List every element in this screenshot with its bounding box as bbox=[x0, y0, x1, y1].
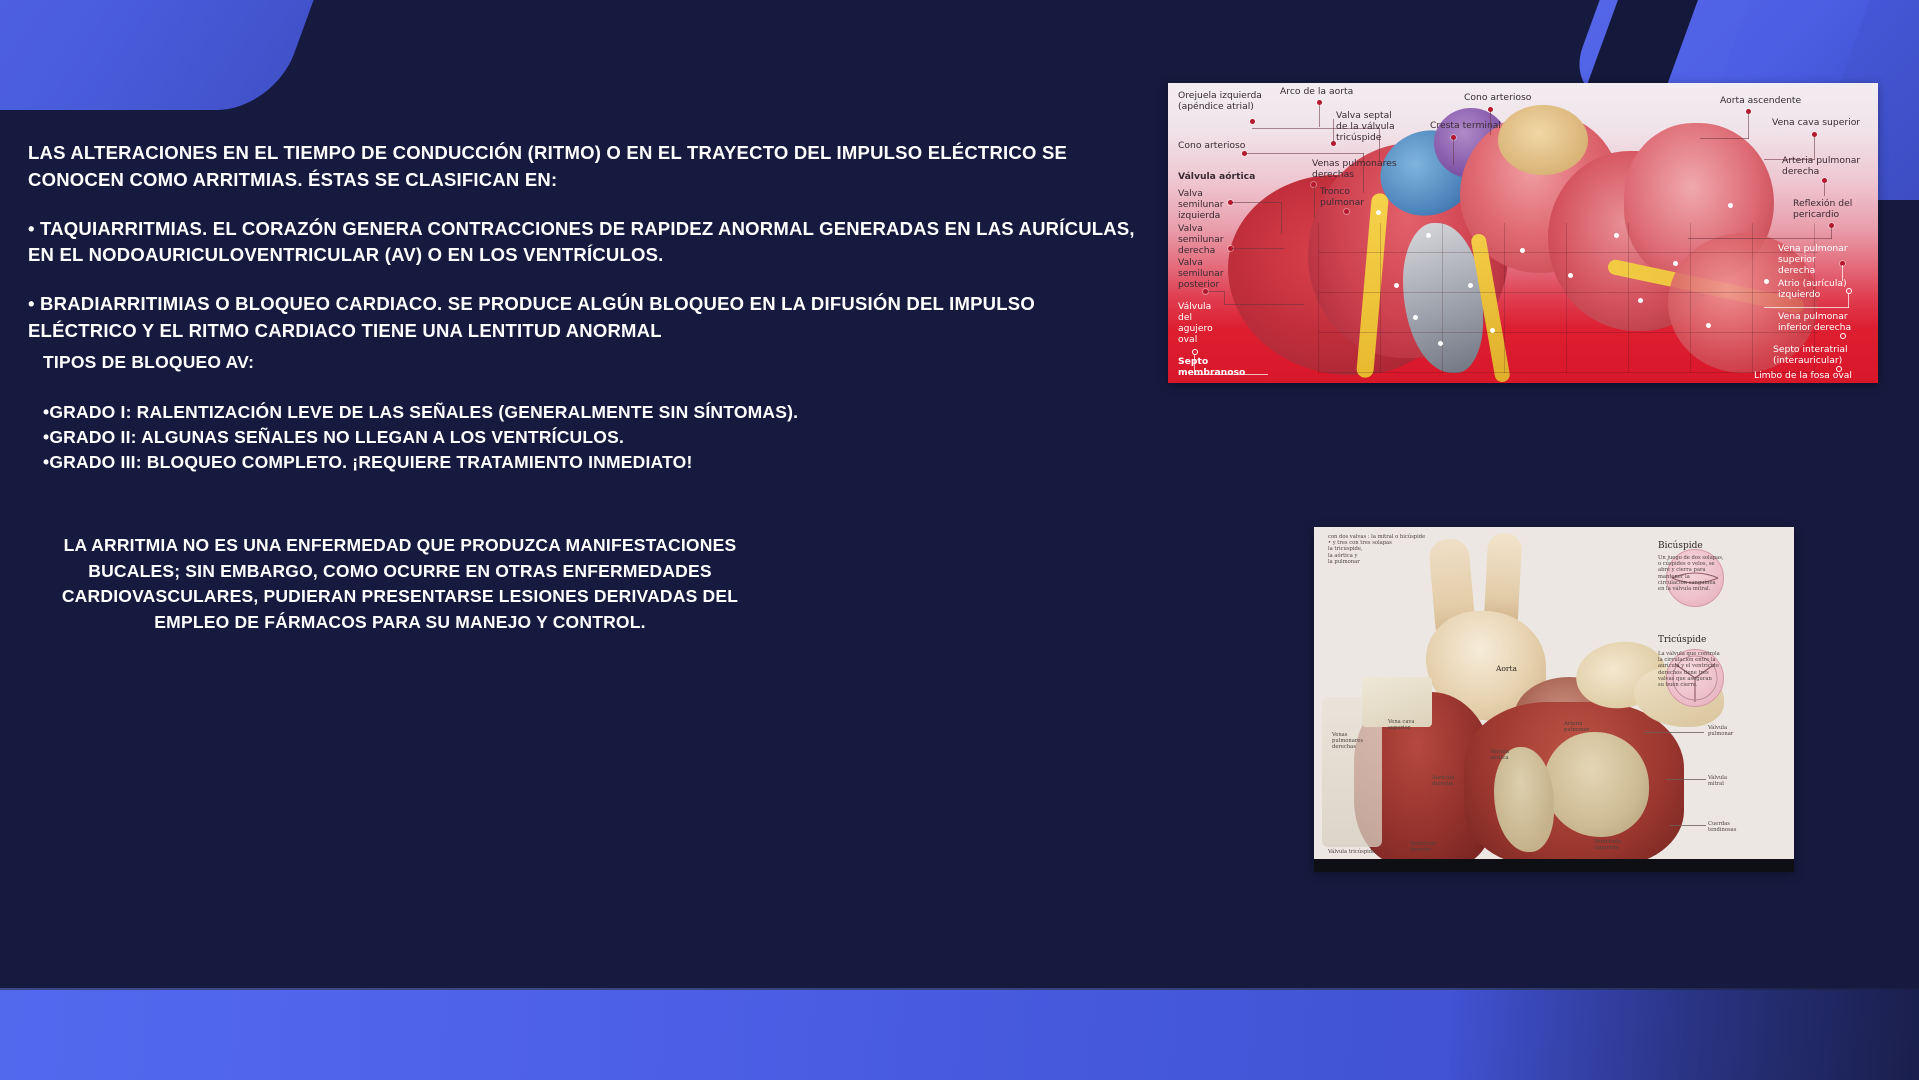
figure-label-reflexion-pericardio: Reflexión del pericardio bbox=[1793, 199, 1852, 221]
deco-top-left-shape-2 bbox=[0, 0, 426, 110]
deco-bottom-band bbox=[0, 990, 1919, 1080]
figure-leader-line bbox=[1224, 291, 1225, 305]
callout-dot bbox=[1728, 203, 1733, 208]
figure-leader-line bbox=[1232, 248, 1284, 249]
figure-grid-overlay bbox=[1318, 223, 1818, 373]
figure2-label-vena-cava-superior: Vena cava superior bbox=[1388, 719, 1414, 731]
paragraph-bradiarritmias: • BRADIARRITIMIAS O BLOQUEO CARDIACO. SE… bbox=[28, 291, 1143, 345]
figure-label-valva-semilunar-derecha: Valva semilunar derecha bbox=[1178, 224, 1224, 257]
figure2-label-valvula-pulmonar: Válvula pulmonar bbox=[1708, 725, 1733, 737]
figure-label-aorta-ascendente: Aorta ascendente bbox=[1720, 96, 1801, 107]
av-block-title: TIPOS DE BLOQUEO AV: bbox=[43, 352, 943, 373]
callout-dot bbox=[1426, 233, 1431, 238]
av-block: TIPOS DE BLOQUEO AV: •GRADO I: RALENTIZA… bbox=[43, 352, 943, 475]
figure-label-vena-cava-superior: Vena cava superior bbox=[1772, 118, 1860, 129]
figure-leader-line bbox=[1748, 113, 1749, 139]
figure2-label-cuerdas-tendinosas: Cuerdas tendinosas bbox=[1708, 821, 1736, 833]
figure-label-valva-septal-tricuspide: Valva septal de la válvula tricúspide bbox=[1336, 111, 1395, 144]
figure-label-dot bbox=[1846, 288, 1852, 294]
figure2-leader-line bbox=[1644, 732, 1704, 733]
figure-leader-line bbox=[1764, 307, 1849, 308]
figure-leader-line bbox=[1453, 139, 1454, 165]
list-item-grado-2: •GRADO II: ALGUNAS SEÑALES NO LLEGAN A L… bbox=[43, 425, 943, 450]
figure2-label-valvula-mitral: Válvula mitral bbox=[1708, 775, 1727, 787]
figure-leader-line bbox=[1246, 153, 1364, 154]
figure-label-arteria-pulmonar-derecha: Arteria pulmonar derecha bbox=[1782, 156, 1860, 178]
deco-top-left-shape-1 bbox=[0, 0, 363, 100]
figure-label-valva-semilunar-izquierda: Valva semilunar izquierda bbox=[1178, 189, 1224, 222]
figure-label-septo-interatrial: Septo interatrial (interauricular) bbox=[1773, 345, 1848, 367]
figure-leader-line bbox=[1824, 182, 1825, 196]
callout-dot bbox=[1438, 341, 1443, 346]
figure-label-valvula-agujero-oval: Válvula del agujero oval bbox=[1178, 302, 1213, 345]
figure-label-orejuela-izquierda: Orejuela izquierda (apéndice atrial) bbox=[1178, 91, 1262, 113]
figure2-label-ventriculo-derecho: Ventrículo derecho bbox=[1410, 841, 1437, 853]
figure-heart-anatomy-top[interactable]: Orejuela izquierda (apéndice atrial) Con… bbox=[1168, 83, 1878, 383]
figure-label-vena-pulmonar-superior-derecha: Vena pulmonar superior derecha bbox=[1778, 244, 1848, 277]
figure-label-dot bbox=[1192, 349, 1198, 355]
figure-label-valvula-aortica: Válvula aórtica bbox=[1178, 172, 1255, 183]
organ-shape-fat-pad bbox=[1498, 105, 1588, 175]
figure-leader-line bbox=[1281, 202, 1282, 234]
figure-heart-photo-bottom[interactable]: con dos valvas : la mitral o bicúspide •… bbox=[1314, 527, 1794, 872]
deco-bottom-right-fade bbox=[1449, 988, 1919, 1080]
figure-label-septo-membranoso: Septo membranoso bbox=[1178, 357, 1245, 379]
figure-leader-line bbox=[1319, 105, 1320, 127]
paragraph-taquiarritmias: • TAQUIARRITMIAS. EL CORAZÓN GENERA CONT… bbox=[28, 216, 1143, 270]
figure-label-vena-pulmonar-inferior-derecha: Vena pulmonar inferior derecha bbox=[1778, 312, 1851, 334]
figure-label-dot bbox=[1840, 333, 1846, 339]
callout-dot bbox=[1673, 261, 1678, 266]
figure2-label-arteria-pulmonar: Arteria pulmonar bbox=[1564, 721, 1589, 733]
figure2-panel-title-bicuspide: Bicúspide bbox=[1658, 541, 1703, 552]
figure2-panel-body-tricuspide: La válvula que controla la circulación e… bbox=[1658, 651, 1720, 688]
figure-label-cono-arterioso-center: Cono arterioso bbox=[1464, 93, 1531, 104]
figure2-label-ventriculo-izquierdo: Ventrículo izquierdo bbox=[1594, 839, 1621, 851]
figure2-label-valvula-aortica: Válvula aórtica bbox=[1490, 749, 1509, 761]
paragraph-intro: LAS ALTERACIONES EN EL TIEMPO DE CONDUCC… bbox=[28, 140, 1143, 194]
figure2-label-valvula-tricuspide: Válvula tricúspide bbox=[1328, 849, 1375, 855]
av-grade-list: •GRADO I: RALENTIZACIÓN LEVE DE LAS SEÑA… bbox=[43, 400, 943, 475]
slide-canvas: LAS ALTERACIONES EN EL TIEMPO DE CONDUCC… bbox=[0, 0, 1919, 1080]
figure-leader-line bbox=[1314, 186, 1315, 218]
callout-dot bbox=[1764, 279, 1769, 284]
list-item-grado-1: •GRADO I: RALENTIZACIÓN LEVE DE LAS SEÑA… bbox=[43, 400, 943, 425]
figure-leader-line bbox=[1490, 111, 1491, 135]
callout-dot bbox=[1490, 328, 1495, 333]
figure-leader-line bbox=[1206, 291, 1224, 292]
callout-dot bbox=[1706, 323, 1711, 328]
callout-dot bbox=[1376, 210, 1381, 215]
closing-paragraph: LA ARRITMIA NO ES UNA ENFERMEDAD QUE PRO… bbox=[40, 533, 760, 636]
figure-label-dot bbox=[1344, 209, 1349, 214]
figure2-bottom-bar bbox=[1314, 859, 1794, 872]
figure2-panel-title-tricuspide: Tricúspide bbox=[1658, 635, 1706, 646]
figure2-label-auricula-derecha: Aurícula derecha bbox=[1432, 775, 1454, 787]
figure-label-arco-aorta: Arco de la aorta bbox=[1280, 87, 1353, 98]
figure-label-limbo-fosa-oval: Limbo de la fosa oval bbox=[1754, 371, 1852, 382]
figure-label-dot bbox=[1250, 119, 1255, 124]
figure-leader-line bbox=[1688, 238, 1832, 239]
callout-dot bbox=[1520, 248, 1525, 253]
figure2-top-note: con dos valvas : la mitral o bicúspide •… bbox=[1328, 534, 1528, 565]
figure-leader-line bbox=[1700, 138, 1749, 139]
figure2-panel-body-bicuspide: Un juego de dos solapas, o cúspides o ve… bbox=[1658, 555, 1724, 592]
body-text-column: LAS ALTERACIONES EN EL TIEMPO DE CONDUCC… bbox=[28, 140, 1143, 370]
figure-label-atrio-auricula-izquierdo: Atrio (aurícula) izquierdo bbox=[1778, 279, 1847, 301]
figure2-label-venas-pulmonares-derechas: Venas pulmonares derechas bbox=[1332, 732, 1363, 751]
figure-leader-line bbox=[1232, 202, 1282, 203]
callout-dot bbox=[1614, 233, 1619, 238]
deco-top-left-shadow bbox=[0, 0, 56, 112]
callout-dot bbox=[1413, 315, 1418, 320]
figure2-label-aorta: Aorta bbox=[1496, 664, 1517, 673]
figure2-leader-line bbox=[1666, 779, 1706, 780]
figure-leader-line bbox=[1848, 294, 1849, 308]
callout-dot bbox=[1568, 273, 1573, 278]
callout-dot bbox=[1638, 298, 1643, 303]
figure-label-cono-arterioso-left: Cono arterioso bbox=[1178, 141, 1245, 152]
figure-leader-line bbox=[1224, 304, 1304, 305]
callout-dot bbox=[1468, 283, 1473, 288]
list-item-grado-3: •GRADO III: BLOQUEO COMPLETO. ¡REQUIERE … bbox=[43, 450, 943, 475]
figure2-leader-line bbox=[1670, 825, 1706, 826]
figure-label-valva-semilunar-posterior: Valva semilunar posterior bbox=[1178, 258, 1224, 291]
figure-leader-line bbox=[1333, 119, 1334, 143]
callout-dot bbox=[1394, 283, 1399, 288]
deco-bottom-band-line bbox=[0, 988, 1919, 992]
figure-label-tronco-pulmonar: Tronco pulmonar bbox=[1320, 187, 1364, 209]
figure-label-venas-pulmonares-derechas: Venas pulmonares derechas bbox=[1312, 159, 1397, 181]
